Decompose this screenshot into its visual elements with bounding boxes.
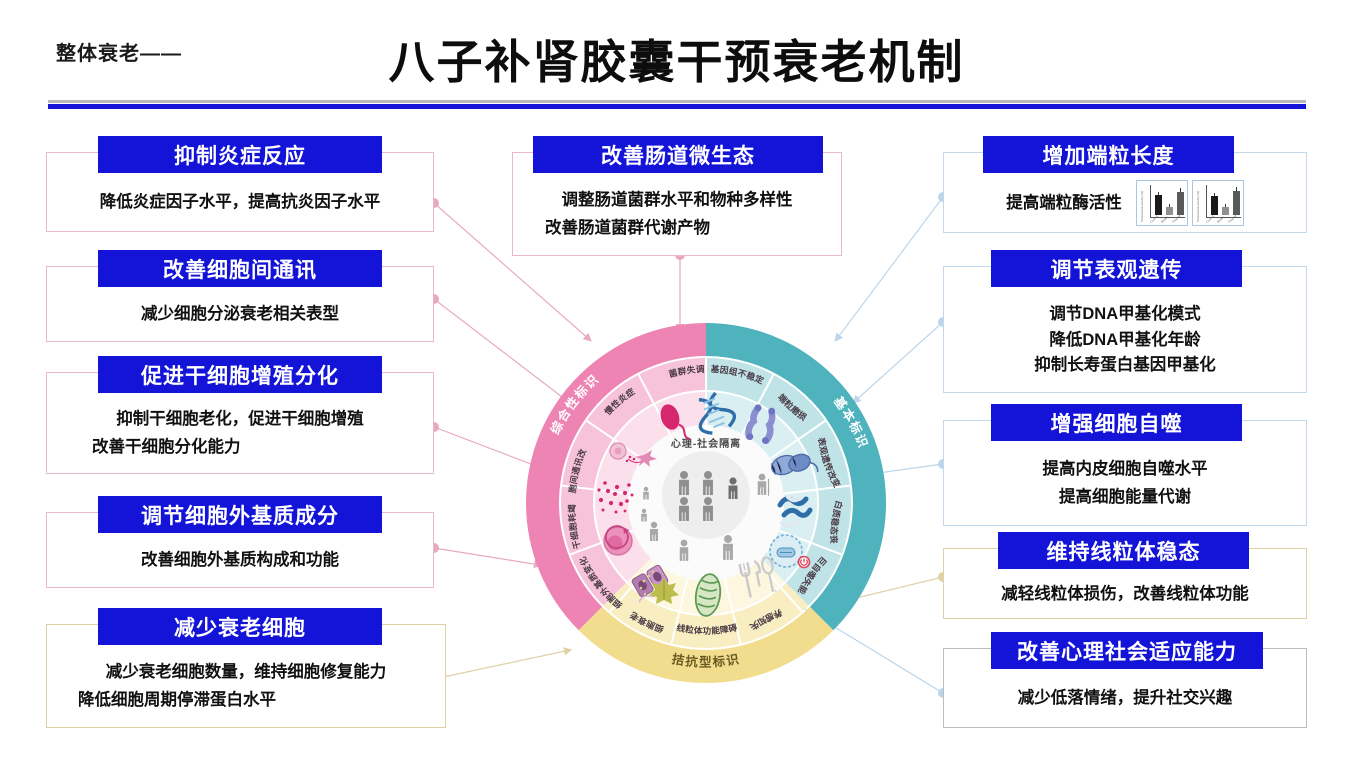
chart-y-label: Telomerase activity (%) bbox=[1140, 191, 1144, 222]
card-body: 减少细胞分泌衰老相关表型 bbox=[46, 287, 434, 342]
aging-hallmarks-wheel: 心理-社会隔离 bbox=[521, 318, 891, 688]
telomerase-mini-charts: Telomerase activity (%)ControlModelTreat… bbox=[1136, 180, 1244, 226]
chart-bar bbox=[1233, 191, 1240, 215]
card-line: 减轻线粒体损伤，改善线粒体功能 bbox=[1001, 584, 1249, 605]
card-maintain-mitochondria[interactable]: 维持线粒体稳态 减轻线粒体损伤，改善线粒体功能 bbox=[943, 532, 1307, 619]
card-promote-stem-cell[interactable]: 促进干细胞增殖分化 抑制干细胞老化，促进干细胞增殖 改善干细胞分化能力 bbox=[46, 356, 434, 474]
card-body: 提高内皮细胞自噬水平 提高细胞能量代谢 bbox=[943, 441, 1307, 526]
chart-y-label: Telomerase activity (%) bbox=[1196, 191, 1200, 222]
slide-canvas: 整体衰老—— 八子补肾胶囊干预衰老机制 bbox=[0, 0, 1353, 765]
card-line: 降低炎症因子水平，提高抗炎因子水平 bbox=[100, 192, 381, 213]
card-inhibit-inflammation[interactable]: 抑制炎症反应 降低炎症因子水平，提高抗炎因子水平 bbox=[46, 136, 434, 232]
card-title: 调节细胞外基质成分 bbox=[98, 496, 382, 533]
card-line: 降低细胞周期停滞蛋白水平 bbox=[78, 690, 276, 711]
card-increase-telomere-length[interactable]: 增加端粒长度 提高端粒酶活性 Telomerase activity (%)Co… bbox=[943, 136, 1307, 233]
card-title: 调节表观遗传 bbox=[991, 250, 1242, 287]
chart-error-bar bbox=[1236, 187, 1237, 191]
chart-tick-label: Treated bbox=[1227, 214, 1237, 224]
card-body: 抑制干细胞老化，促进干细胞增殖 改善干细胞分化能力 bbox=[46, 393, 434, 474]
card-title: 增强细胞自噬 bbox=[991, 404, 1242, 441]
card-title: 减少衰老细胞 bbox=[98, 608, 382, 645]
card-line: 改善肠道菌群代谢产物 bbox=[545, 218, 710, 239]
card-body: 减轻线粒体损伤，改善线粒体功能 bbox=[943, 569, 1307, 619]
mini-bar-chart: Telomerase activity (%)ControlModelTreat… bbox=[1192, 180, 1244, 226]
chart-bar bbox=[1166, 207, 1173, 215]
card-title: 抑制炎症反应 bbox=[98, 136, 382, 173]
card-reduce-senescent-cells[interactable]: 减少衰老细胞 减少衰老细胞数量，维持细胞修复能力 降低细胞周期停滞蛋白水平 bbox=[46, 608, 446, 728]
card-line: 调整肠道菌群水平和物种多样性 bbox=[562, 190, 793, 211]
card-enhance-autophagy[interactable]: 增强细胞自噬 提高内皮细胞自噬水平 提高细胞能量代谢 bbox=[943, 404, 1307, 526]
card-line: 降低DNA甲基化年龄 bbox=[1049, 330, 1200, 351]
chart-error-bar bbox=[1158, 192, 1159, 195]
card-line: 调节DNA甲基化模式 bbox=[1049, 304, 1200, 325]
card-title: 维持线粒体稳态 bbox=[998, 532, 1249, 569]
card-line: 提高细胞能量代谢 bbox=[1059, 487, 1191, 508]
chart-bar bbox=[1211, 196, 1218, 215]
card-line: 减少细胞分泌衰老相关表型 bbox=[141, 304, 339, 325]
chart-bar bbox=[1155, 195, 1162, 215]
card-title: 增加端粒长度 bbox=[983, 136, 1234, 173]
card-line: 抑制干细胞老化，促进干细胞增殖 bbox=[116, 409, 364, 430]
card-improve-cell-communication[interactable]: 改善细胞间通讯 减少细胞分泌衰老相关表型 bbox=[46, 250, 434, 342]
chart-y-axis bbox=[1206, 185, 1207, 217]
chart-bar bbox=[1177, 192, 1184, 215]
card-line: 改善细胞外基质构成和功能 bbox=[141, 550, 339, 571]
card-line: 提高内皮细胞自噬水平 bbox=[1043, 459, 1208, 480]
card-line: 提高端粒酶活性 bbox=[1006, 193, 1122, 214]
chart-error-bar bbox=[1169, 204, 1170, 207]
card-improve-psychosocial[interactable]: 改善心理社会适应能力 减少低落情绪，提升社交兴趣 bbox=[943, 632, 1307, 728]
card-regulate-epigenetics[interactable]: 调节表观遗传 调节DNA甲基化模式 降低DNA甲基化年龄 抑制长寿蛋白基因甲基化 bbox=[943, 250, 1307, 393]
card-body: 降低炎症因子水平，提高抗炎因子水平 bbox=[46, 173, 434, 232]
card-body: 减少衰老细胞数量，维持细胞修复能力 降低细胞周期停滞蛋白水平 bbox=[46, 645, 446, 728]
card-regulate-ecm[interactable]: 调节细胞外基质成分 改善细胞外基质构成和功能 bbox=[46, 496, 434, 588]
chart-error-bar bbox=[1214, 193, 1215, 196]
card-body: 调节DNA甲基化模式 降低DNA甲基化年龄 抑制长寿蛋白基因甲基化 bbox=[943, 287, 1307, 393]
card-title: 促进干细胞增殖分化 bbox=[98, 356, 382, 393]
chart-y-axis bbox=[1150, 185, 1151, 217]
card-body: 提高端粒酶活性 Telomerase activity (%)ControlMo… bbox=[943, 173, 1307, 233]
card-line: 减少衰老细胞数量，维持细胞修复能力 bbox=[106, 662, 387, 683]
chart-bar bbox=[1222, 207, 1229, 215]
card-body: 改善细胞外基质构成和功能 bbox=[46, 533, 434, 588]
wheel-center-label: 心理-社会隔离 bbox=[671, 437, 741, 450]
chart-tick-label: Treated bbox=[1171, 214, 1181, 224]
card-line: 减少低落情绪，提升社交兴趣 bbox=[1018, 688, 1233, 709]
card-line: 改善干细胞分化能力 bbox=[92, 437, 241, 458]
card-body: 调整肠道菌群水平和物种多样性 改善肠道菌群代谢产物 bbox=[512, 173, 842, 256]
stem-cell-icon bbox=[604, 526, 632, 555]
chart-error-bar bbox=[1180, 188, 1181, 192]
isolated-person-icon bbox=[729, 477, 738, 499]
card-title: 改善细胞间通讯 bbox=[98, 250, 382, 287]
card-body: 减少低落情绪，提升社交兴趣 bbox=[943, 669, 1307, 728]
card-title: 改善心理社会适应能力 bbox=[991, 632, 1263, 669]
mini-bar-chart: Telomerase activity (%)ControlModelTreat… bbox=[1136, 180, 1188, 226]
card-line: 抑制长寿蛋白基因甲基化 bbox=[1034, 355, 1216, 376]
chart-error-bar bbox=[1225, 204, 1226, 207]
card-improve-gut-microbiota[interactable]: 改善肠道微生态 调整肠道菌群水平和物种多样性 改善肠道菌群代谢产物 bbox=[512, 136, 842, 256]
card-title: 改善肠道微生态 bbox=[533, 136, 823, 173]
